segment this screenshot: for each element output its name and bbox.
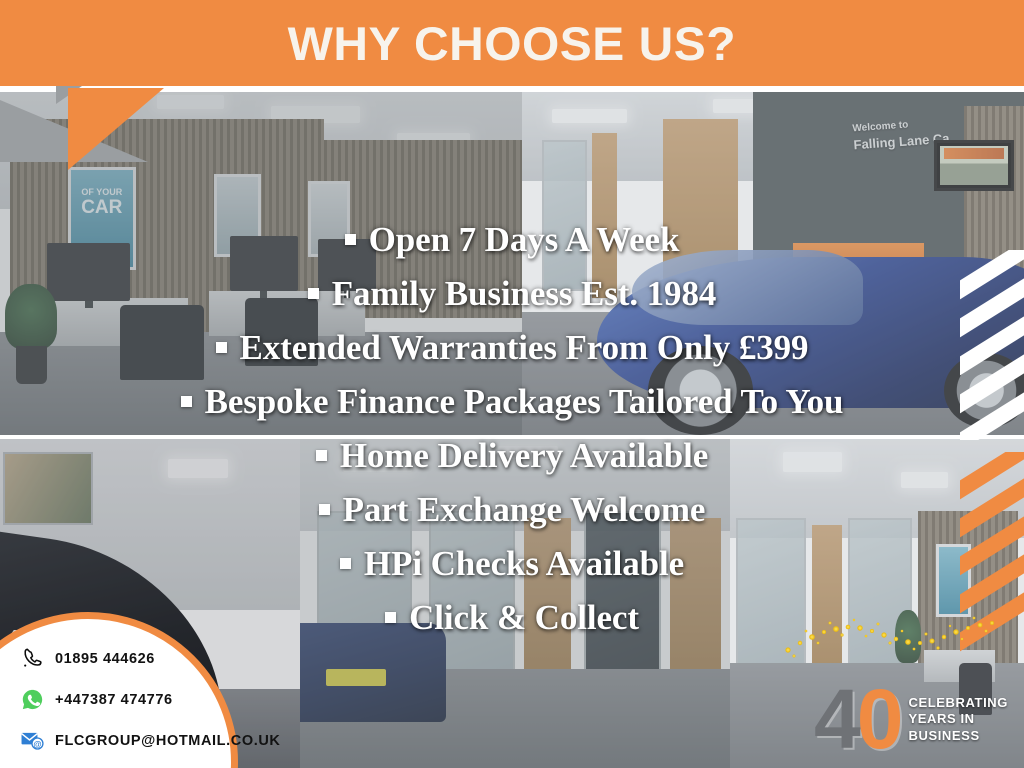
badge-line-1: CELEBRATING (908, 695, 1008, 711)
photo-blue-saloon (300, 439, 730, 768)
why-choose-us-poster: OF YOUR CAR (0, 0, 1024, 768)
contact-email-row[interactable]: @ FLCGROUP@HOTMAIL.CO.UK (21, 729, 281, 752)
badge-digit-0: 0 (857, 685, 900, 754)
phone-number: 01895 444626 (55, 651, 155, 667)
svg-text:@: @ (33, 739, 41, 749)
whatsapp-icon (21, 688, 44, 711)
badge-number: 4 0 (814, 685, 899, 754)
anniversary-badge: 4 0 CELEBRATING YEARS IN BUSINESS (814, 685, 1008, 754)
header-banner: WHY CHOOSE US? (0, 0, 1024, 86)
sparkle-trail-icon (774, 610, 1004, 672)
badge-line-2: YEARS IN (908, 711, 1008, 727)
contact-phone-row[interactable]: 01895 444626 (21, 647, 281, 670)
badge-caption: CELEBRATING YEARS IN BUSINESS (908, 695, 1008, 744)
row-divider (0, 435, 1024, 439)
chevron-stripes-white (952, 250, 1024, 440)
whatsapp-number: +447387 474776 (55, 692, 173, 708)
number-plate (326, 669, 386, 685)
contact-list: 01895 444626 +447387 474776 @ FLCGROUP@H… (21, 647, 281, 752)
page-title: WHY CHOOSE US? (288, 16, 736, 71)
badge-line-3: BUSINESS (908, 728, 1008, 744)
phone-handset-icon (21, 647, 44, 670)
contact-whatsapp-row[interactable]: +447387 474776 (21, 688, 281, 711)
email-at-icon: @ (21, 729, 44, 752)
badge-digit-4: 4 (814, 685, 857, 754)
photo-reception-blue-car: Welcome to Falling Lane Ca (522, 92, 1024, 435)
corner-triangle-orange-lower (68, 88, 164, 170)
wall-tv (934, 140, 1014, 191)
email-address: FLCGROUP@HOTMAIL.CO.UK (55, 733, 281, 749)
